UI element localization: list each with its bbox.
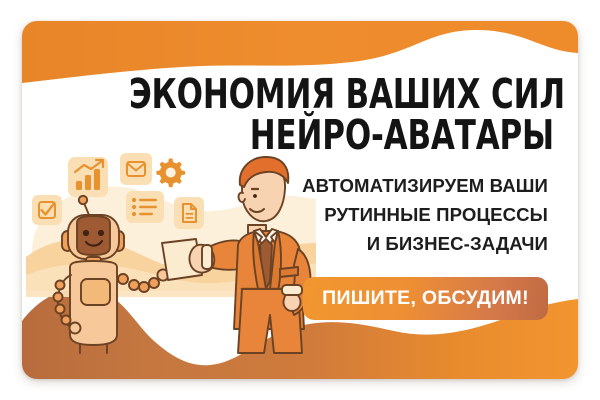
headline-line-1: ЭКОНОМИЯ ВАШИХ СИЛ И ВРЕМЕНИ bbox=[129, 74, 554, 115]
cta-button[interactable]: ПИШИТЕ, ОБСУДИМ! bbox=[303, 277, 548, 320]
headline-line-2: НЕЙРО-АВАТАРЫ bbox=[129, 115, 554, 156]
envelope-icon bbox=[120, 153, 152, 185]
subheading-line-2: РУТИННЫЕ ПРОЦЕССЫ bbox=[228, 200, 548, 229]
subheading-line-3: И БИЗНЕС-ЗАДАЧИ bbox=[228, 229, 548, 258]
promo-card: ЭКОНОМИЯ ВАШИХ СИЛ И ВРЕМЕНИ НЕЙРО-АВАТА… bbox=[22, 21, 578, 379]
subheading: АВТОМАТИЗИРУЕМ ВАШИ РУТИННЫЕ ПРОЦЕССЫ И … bbox=[228, 171, 548, 258]
bullet-list-icon bbox=[126, 191, 164, 223]
page-title: ЭКОНОМИЯ ВАШИХ СИЛ И ВРЕМЕНИ НЕЙРО-АВАТА… bbox=[129, 74, 554, 156]
gear-icon bbox=[156, 159, 185, 188]
subheading-line-1: АВТОМАТИЗИРУЕМ ВАШИ bbox=[228, 171, 548, 200]
checkbox-icon bbox=[32, 195, 62, 225]
banner-stage: ЭКОНОМИЯ ВАШИХ СИЛ И ВРЕМЕНИ НЕЙРО-АВАТА… bbox=[0, 0, 600, 400]
document-icon bbox=[174, 197, 204, 229]
bar-chart-icon bbox=[68, 157, 108, 197]
